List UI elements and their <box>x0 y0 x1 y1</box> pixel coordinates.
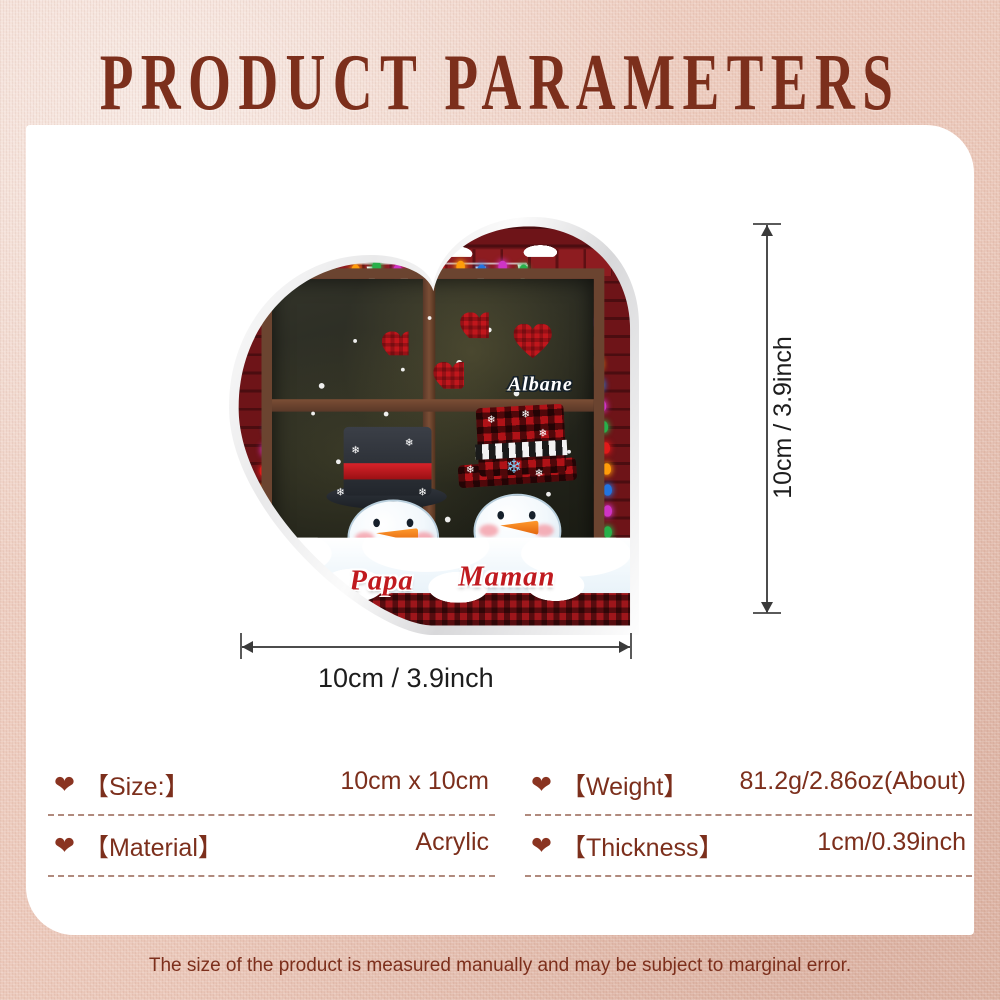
spec-row-size: ❤ 【Size:】 10cm x 10cm <box>40 755 495 816</box>
snowflake-icon: ❄ <box>487 415 496 426</box>
dimension-tick-right <box>630 633 632 659</box>
specifications-table: ❤ 【Size:】 10cm x 10cm ❤ 【Material】 Acryl… <box>26 755 974 930</box>
dimension-arrow-left <box>242 641 253 653</box>
specs-column-right: ❤ 【Weight】 81.2g/2.86oz(About) ❤ 【Thickn… <box>517 755 972 877</box>
spec-label-weight: 【Weight】 <box>561 767 688 803</box>
snowflake-icon: ❄ <box>336 488 345 499</box>
spec-row-thickness: ❤ 【Thickness】 1cm/0.39inch <box>517 816 972 877</box>
snow-scallop <box>231 564 637 602</box>
snowflake-icon: ❄ <box>466 465 475 476</box>
dimension-arrow-up <box>761 225 773 236</box>
content-card: Albane ❄ ❄ ❄ ❄ <box>26 125 974 935</box>
snowflake-dot <box>319 383 325 389</box>
light-bulb-icon <box>603 484 612 495</box>
snowflake-icon: ❄ <box>535 469 544 480</box>
snowflake-dot <box>311 412 315 416</box>
spec-label-material: 【Material】 <box>84 828 223 864</box>
dimension-arrow-right <box>619 641 630 653</box>
snowman-eye <box>407 519 414 528</box>
spec-key-size: ❤ 【Size:】 <box>54 767 190 803</box>
spec-value-size: 10cm x 10cm <box>340 767 489 796</box>
spec-label-thickness: 【Thickness】 <box>561 828 724 864</box>
snowman-cheek <box>479 524 498 536</box>
spec-value-material: Acrylic <box>415 828 489 857</box>
spec-value-weight: 81.2g/2.86oz(About) <box>739 767 966 796</box>
spec-value-thickness: 1cm/0.39inch <box>817 828 966 857</box>
light-bulb-icon <box>603 505 612 516</box>
dimension-width-label: 10cm / 3.9inch <box>318 663 494 694</box>
snowflake-dot <box>401 368 405 372</box>
snowflake-dot <box>353 339 357 343</box>
spec-row-material: ❤ 【Material】 Acrylic <box>40 816 495 877</box>
dimension-height-label: 10cm / 3.9inch <box>769 336 798 499</box>
snowflake-icon: ❄ <box>418 488 427 499</box>
top-hat-crown <box>344 427 432 496</box>
heart-bullet-icon: ❤ <box>531 773 552 798</box>
dimension-arrow-down <box>761 602 773 613</box>
snowman-eye <box>373 519 380 528</box>
snowflake-dot <box>567 450 571 454</box>
spec-row-weight: ❤ 【Weight】 81.2g/2.86oz(About) <box>517 755 972 816</box>
light-bulb-icon <box>603 526 612 537</box>
snowman-eye <box>529 511 536 520</box>
dimension-line-horizontal <box>242 646 630 648</box>
snowflake-dot <box>428 316 432 320</box>
dimension-line-vertical <box>766 225 768 613</box>
page-title: PRODUCT PARAMETERS <box>40 36 960 129</box>
snowflake-dot <box>336 459 341 464</box>
top-hat-band <box>344 463 432 479</box>
snowflake-dot <box>546 492 551 497</box>
spec-label-size: 【Size:】 <box>84 767 190 803</box>
spec-key-thickness: ❤ 【Thickness】 <box>531 828 724 864</box>
snowman-eye <box>497 511 504 520</box>
snowflake-dot <box>384 412 389 417</box>
heart-bullet-icon: ❤ <box>54 834 75 859</box>
spec-key-weight: ❤ 【Weight】 <box>531 767 688 803</box>
specs-column-left: ❤ 【Size:】 10cm x 10cm ❤ 【Material】 Acryl… <box>40 755 495 877</box>
footer-note: The size of the product is measured manu… <box>0 955 1000 977</box>
product-image-stage: Albane ❄ ❄ ❄ ❄ <box>26 125 974 685</box>
spec-divider <box>48 875 495 877</box>
personalized-name-window: Albane <box>508 372 573 396</box>
ledge-snow <box>254 242 612 257</box>
blue-snowflake-icon: ❄ <box>506 457 522 476</box>
spec-key-material: ❤ 【Material】 <box>54 828 223 864</box>
snowflake-icon: ❄ <box>521 410 530 421</box>
heart-bullet-icon: ❤ <box>531 834 552 859</box>
heart-bullet-icon: ❤ <box>54 773 75 798</box>
snowflake-icon: ❄ <box>538 429 547 440</box>
snowflake-icon: ❄ <box>405 438 414 449</box>
personalized-name-maman: Maman <box>458 561 555 593</box>
spec-divider <box>525 875 972 877</box>
personalized-name-papa: Papa <box>349 564 413 596</box>
snowflake-dot <box>445 517 451 523</box>
snowflake-icon: ❄ <box>351 446 360 457</box>
product-heart-plaque: Albane ❄ ❄ ❄ ❄ <box>221 215 646 635</box>
